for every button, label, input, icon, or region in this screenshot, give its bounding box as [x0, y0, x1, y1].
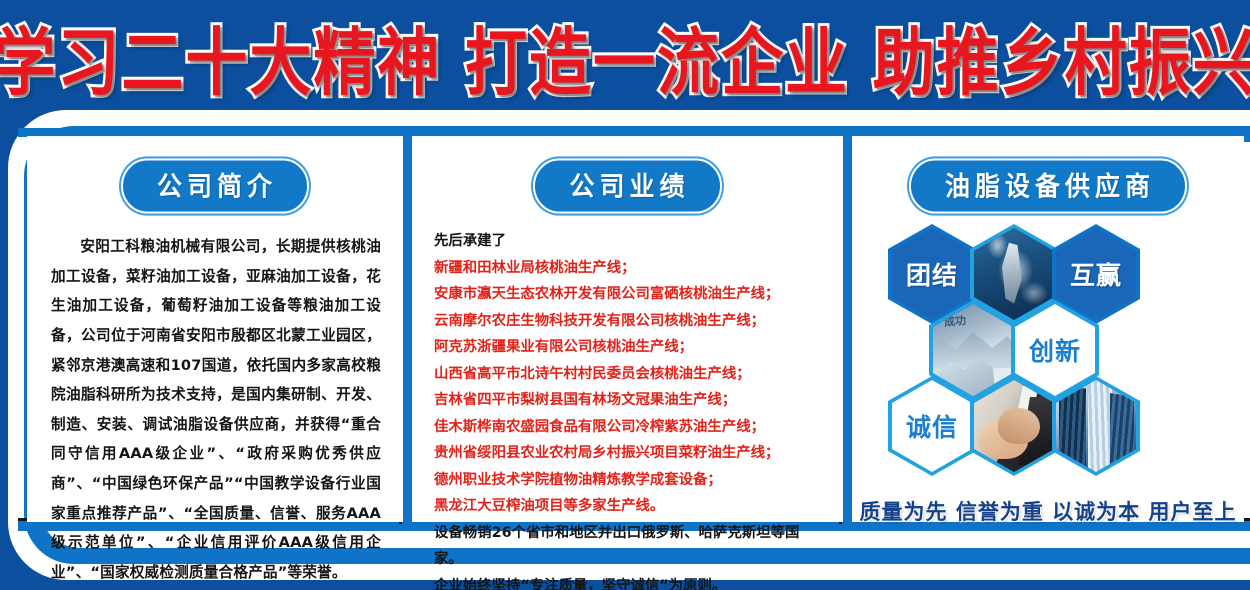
hex-unity-label: 团结	[906, 256, 958, 292]
badge-row-supplier: 油脂设备供应商	[852, 160, 1244, 212]
performance-footer-line: 企业始终坚持“专注质量，坚守诚信”为原则。	[434, 573, 827, 590]
page-title: 学习二十大精神 打造一流企业 助推乡村振兴	[0, 3, 1250, 109]
company-performance-body: 先后承建了 新疆和田林业局核桃油生产线；安康市瀛天生态农林开发有限公司富硒核桃油…	[434, 228, 827, 590]
panel-company-profile: 公司简介 安阳工科粮油机械有限公司，长期提供核桃油加工设备，菜籽油加工设备，亚麻…	[27, 136, 403, 522]
poster-root: 学习二十大精神 打造一流企业 助推乡村振兴 公司简介 安阳工科粮油机械有限公司，…	[0, 0, 1250, 590]
hexagon-cluster: 团结 互赢 成功	[852, 218, 1244, 480]
panel-company-performance: 公司业绩 先后承建了 新疆和田林业局核桃油生产线；安康市瀛天生态农林开发有限公司…	[412, 136, 843, 522]
hex-mutual-win-label: 互赢	[1070, 256, 1122, 292]
performance-lead: 先后承建了	[434, 228, 827, 255]
hex-success-inner: 成功	[933, 304, 1013, 396]
badge-row-company-profile: 公司简介	[27, 160, 403, 212]
badge-company-performance: 公司业绩	[533, 158, 721, 213]
panel-divider-right	[843, 136, 852, 522]
performance-project-list: 新疆和田林业局核桃油生产线；安康市瀛天生态农林开发有限公司富硒核桃油生产线；云南…	[434, 255, 827, 520]
company-profile-body: 安阳工科粮油机械有限公司，长期提供核桃油加工设备，菜籽油加工设备，亚麻油加工设备…	[51, 232, 381, 588]
hex-handshake-inner	[974, 380, 1054, 472]
performance-project-item: 新疆和田林业局核桃油生产线；	[434, 255, 827, 282]
hex-integrity-inner: 诚信	[892, 380, 972, 472]
performance-project-item: 阿克苏浙疆果业有限公司核桃油生产线；	[434, 334, 827, 361]
supplier-tagline: 质量为先 信誉为重 以诚为本 用户至上	[852, 496, 1244, 526]
poster-header: 学习二十大精神 打造一流企业 助推乡村振兴	[0, 0, 1250, 112]
panel-divider-left	[403, 136, 412, 522]
hex-innovation-label: 创新	[1029, 332, 1081, 368]
performance-footer-line: 设备畅销26个省市和地区并出口俄罗斯、哈萨克斯坦等国家。	[434, 520, 827, 573]
badge-company-profile: 公司简介	[121, 158, 309, 213]
badge-row-company-performance: 公司业绩	[412, 160, 843, 212]
hex-innovation-inner: 创新	[1015, 304, 1095, 396]
hex-unity-inner: 团结	[892, 228, 972, 320]
success-mountain-icon: 成功	[933, 304, 1013, 396]
performance-project-item: 吉林省四平市梨树县国有林场文冠果油生产线；	[434, 387, 827, 414]
performance-project-item: 山西省高平市北诗午村村民委员会核桃油生产线；	[434, 361, 827, 388]
performance-project-item: 佳木斯桦南农盛园食品有限公司冷榨紫苏油生产线；	[434, 414, 827, 441]
badge-supplier: 油脂设备供应商	[909, 158, 1187, 213]
aircraft-carrier-icon	[974, 228, 1054, 320]
handshake-icon	[974, 380, 1054, 472]
hex-mutual-win-inner: 互赢	[1056, 228, 1136, 320]
performance-project-item: 云南摩尔农庄生物科技开发有限公司核桃油生产线；	[434, 308, 827, 335]
performance-project-item: 黑龙江大豆榨油项目等多家生产线。	[434, 493, 827, 520]
performance-project-item: 安康市瀛天生态农林开发有限公司富硒核桃油生产线；	[434, 281, 827, 308]
performance-project-item: 德州职业技术学院植物油精炼教学成套设备；	[434, 467, 827, 494]
panel-supplier: 油脂设备供应商 团结 互赢	[852, 136, 1244, 522]
skyscrapers-icon	[1056, 380, 1136, 472]
hex-skyscrapers-inner	[1056, 380, 1136, 472]
performance-footer-list: 设备畅销26个省市和地区并出口俄罗斯、哈萨克斯坦等国家。企业始终坚持“专注质量，…	[434, 520, 827, 590]
hex-integrity-label: 诚信	[906, 408, 958, 444]
performance-project-item: 贵州省绥阳县农业农村局乡村振兴项目菜籽油生产线；	[434, 440, 827, 467]
hex-aircraft-carrier-inner	[974, 228, 1054, 320]
